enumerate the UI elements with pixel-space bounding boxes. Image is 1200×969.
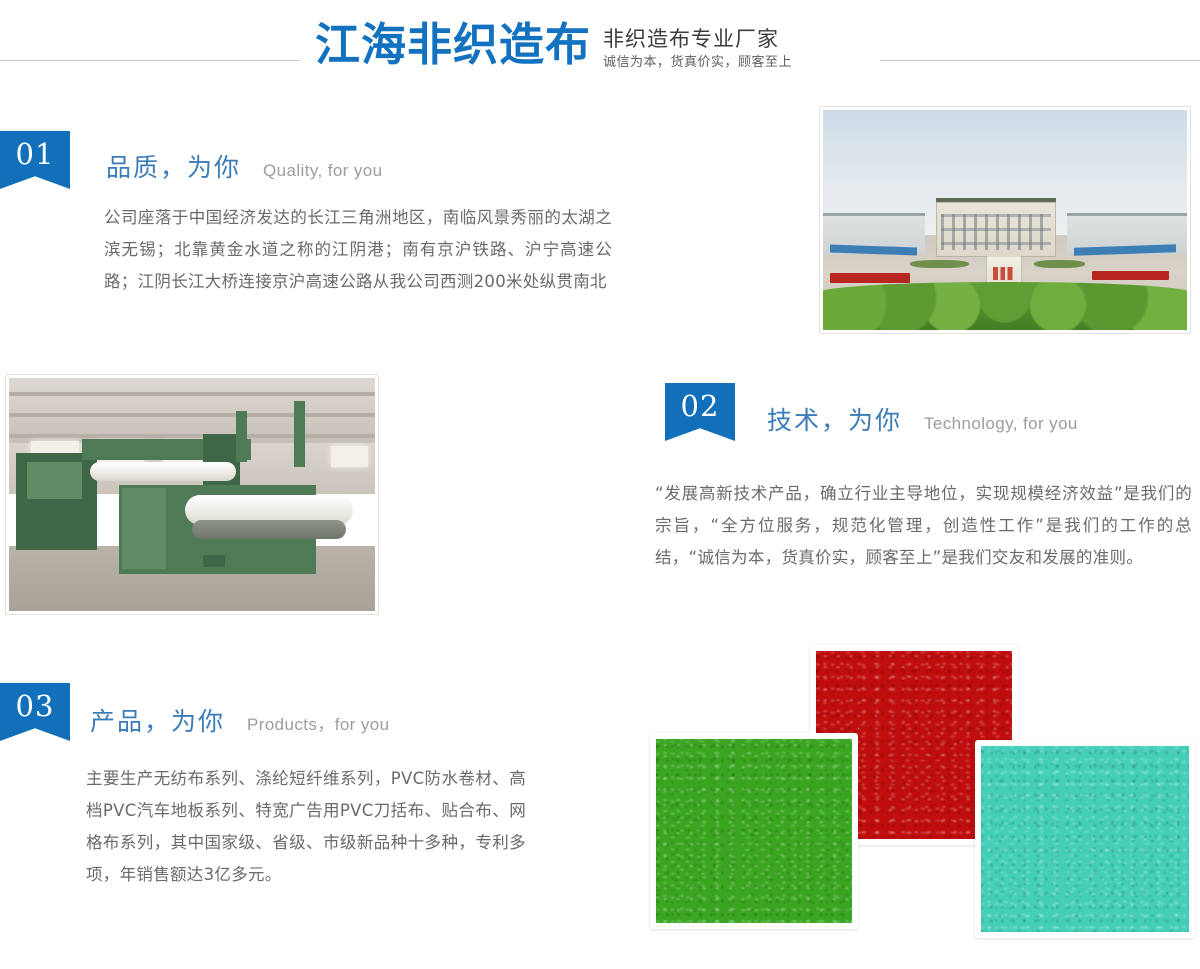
section-title-en-01: Quality, for you [263, 161, 382, 181]
machine-panel-left [27, 462, 82, 499]
brand-title: 江海非织造布 [315, 14, 591, 76]
nonwoven-production-line-photo [5, 374, 379, 615]
factory-aerial-photo [819, 106, 1191, 334]
section-heading-03: 产品，为你 Products，for you [90, 702, 389, 738]
section-body-03: 主要生产无纺布系列、涤纶短纤维系列，PVC防水卷材、高档PVC汽车地板系列、特宽… [86, 763, 526, 891]
factory-banner-left [830, 273, 910, 283]
machine-side-panel [122, 488, 166, 570]
ceiling-beam-1 [9, 392, 375, 396]
fabric-roll-upper [90, 462, 236, 481]
header-divider-left [0, 60, 300, 61]
green-pvc-swatch [650, 733, 858, 929]
ceiling-beam-2 [9, 413, 375, 417]
factory-main-building [936, 198, 1056, 257]
section-heading-01: 品质，为你 Quality, for you [106, 148, 382, 184]
header-divider-right [880, 60, 1200, 61]
machine-post-far [294, 401, 305, 466]
turquoise-pvc-swatch [975, 740, 1195, 938]
turquoise-pvc-texture [981, 746, 1189, 932]
promo-page: 江海非织造布 非织造布专业厂家 诚信为本，货真价实，顾客至上 01 品质，为你 … [0, 0, 1200, 969]
factory-banner-right [1092, 271, 1168, 281]
section-body-02: “发展高新技术产品，确立行业主导地位，实现规模经济效益”是我们的宗旨，“全方位服… [655, 478, 1192, 574]
factory-hedge-right [1034, 260, 1085, 269]
factory-hedge-left [910, 260, 968, 269]
section-title-cn-02: 技术，为你 [767, 401, 902, 437]
section-badge-01: 01 [0, 131, 70, 189]
section-title-en-02: Technology, for you [924, 414, 1078, 434]
roller-gray [192, 520, 346, 539]
section-title-en-03: Products，for you [247, 710, 389, 735]
section-body-01: 公司座落于中国经济发达的长江三角洲地区，南临风景秀丽的太湖之滨无锡；北靠黄金水道… [104, 202, 612, 298]
ceiling-beam-3 [9, 434, 375, 438]
section-title-cn-03: 产品，为你 [90, 702, 225, 738]
green-pvc-texture [656, 739, 852, 923]
brand-subtitle: 非织造布专业厂家 [603, 26, 792, 52]
section-title-cn-01: 品质，为你 [106, 148, 241, 184]
brand-text-group: 非织造布专业厂家 诚信为本，货真价实，顾客至上 [603, 14, 792, 74]
factory-tree-line [823, 282, 1187, 330]
brand-slogan: 诚信为本，货真价实，顾客至上 [603, 52, 792, 74]
machine-control-box [203, 555, 225, 567]
section-heading-02: 技术，为你 Technology, for you [767, 401, 1078, 437]
section-badge-02: 02 [665, 383, 735, 441]
machine-post-right [236, 411, 247, 462]
page-header: 江海非织造布 非织造布专业厂家 诚信为本，货真价实，顾客至上 [0, 0, 1200, 100]
section-badge-03: 03 [0, 683, 70, 741]
wall-window-4 [331, 446, 368, 467]
brand-block: 江海非织造布 非织造布专业厂家 诚信为本，货真价实，顾客至上 [315, 14, 792, 76]
